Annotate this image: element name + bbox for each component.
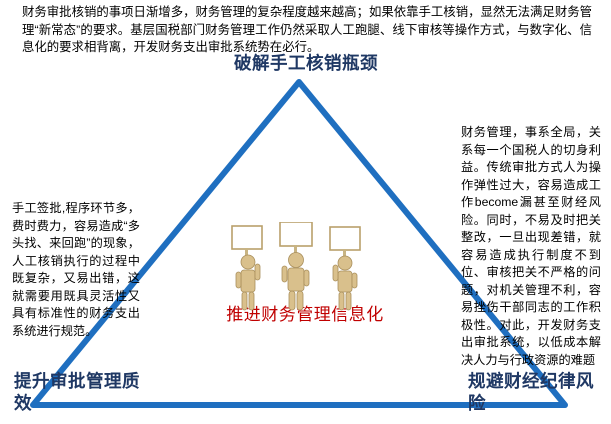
slide-canvas: 财务审批核销的事项日渐增多，财务管理的复杂程度越来越高；如果依靠手工核销，显然无…	[0, 0, 611, 424]
right-description: 财务管理，事系全局，关系每一个国税人的切身利益。传统审批方式人为操作弹性过大，容…	[461, 124, 601, 369]
title-bottom-left: 提升审批管理质效	[14, 370, 144, 414]
people-with-signs-icon	[218, 222, 394, 312]
left-description: 手工签批,程序环节多，费时费力，容易造成“多头找、来回跑”的现象，人工核销执行的…	[12, 200, 140, 340]
intro-paragraph: 财务审批核销的事项日渐增多，财务管理的复杂程度越来越高；如果依靠手工核销，显然无…	[22, 4, 592, 57]
title-top: 破解手工核销瓶颈	[196, 52, 416, 74]
title-bottom-right: 规避财经纪律风险	[468, 370, 603, 414]
